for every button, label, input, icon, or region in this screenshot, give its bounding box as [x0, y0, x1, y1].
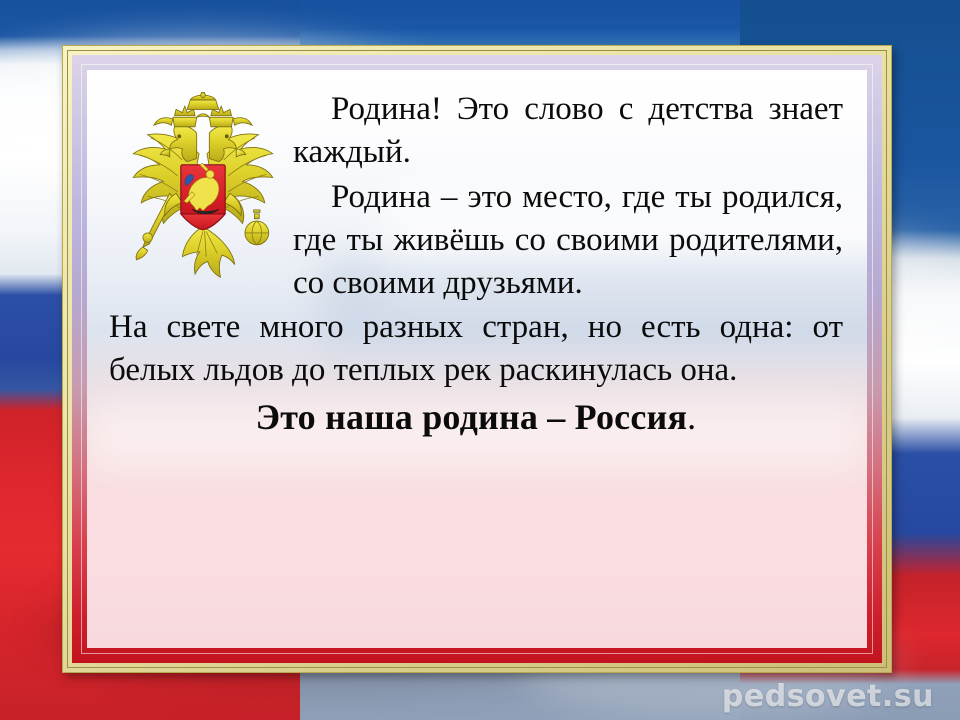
slide-canvas: Родина! Это слово с детства знает каждый…	[0, 0, 960, 720]
paragraph-2: Родина – это место, где ты родился, где …	[109, 176, 843, 305]
inner-matte-border: Родина! Это слово с детства знает каждый…	[72, 55, 882, 663]
text-card: Родина! Это слово с детства знает каждый…	[87, 70, 867, 648]
conclusion-line: Это наша родина – Россия.	[109, 394, 843, 441]
site-watermark: pedsovet.su	[722, 679, 934, 714]
gold-picture-frame: Родина! Это слово с детства знает каждый…	[62, 45, 892, 673]
slide-text-body: Родина! Это слово с детства знает каждый…	[109, 88, 843, 441]
conclusion-punctuation: .	[687, 397, 696, 437]
paragraph-1: Родина! Это слово с детства знает каждый…	[109, 88, 843, 174]
paragraph-3: На свете много разных стран, но есть одн…	[109, 306, 843, 392]
conclusion-text: Это наша родина – Россия	[256, 397, 688, 437]
